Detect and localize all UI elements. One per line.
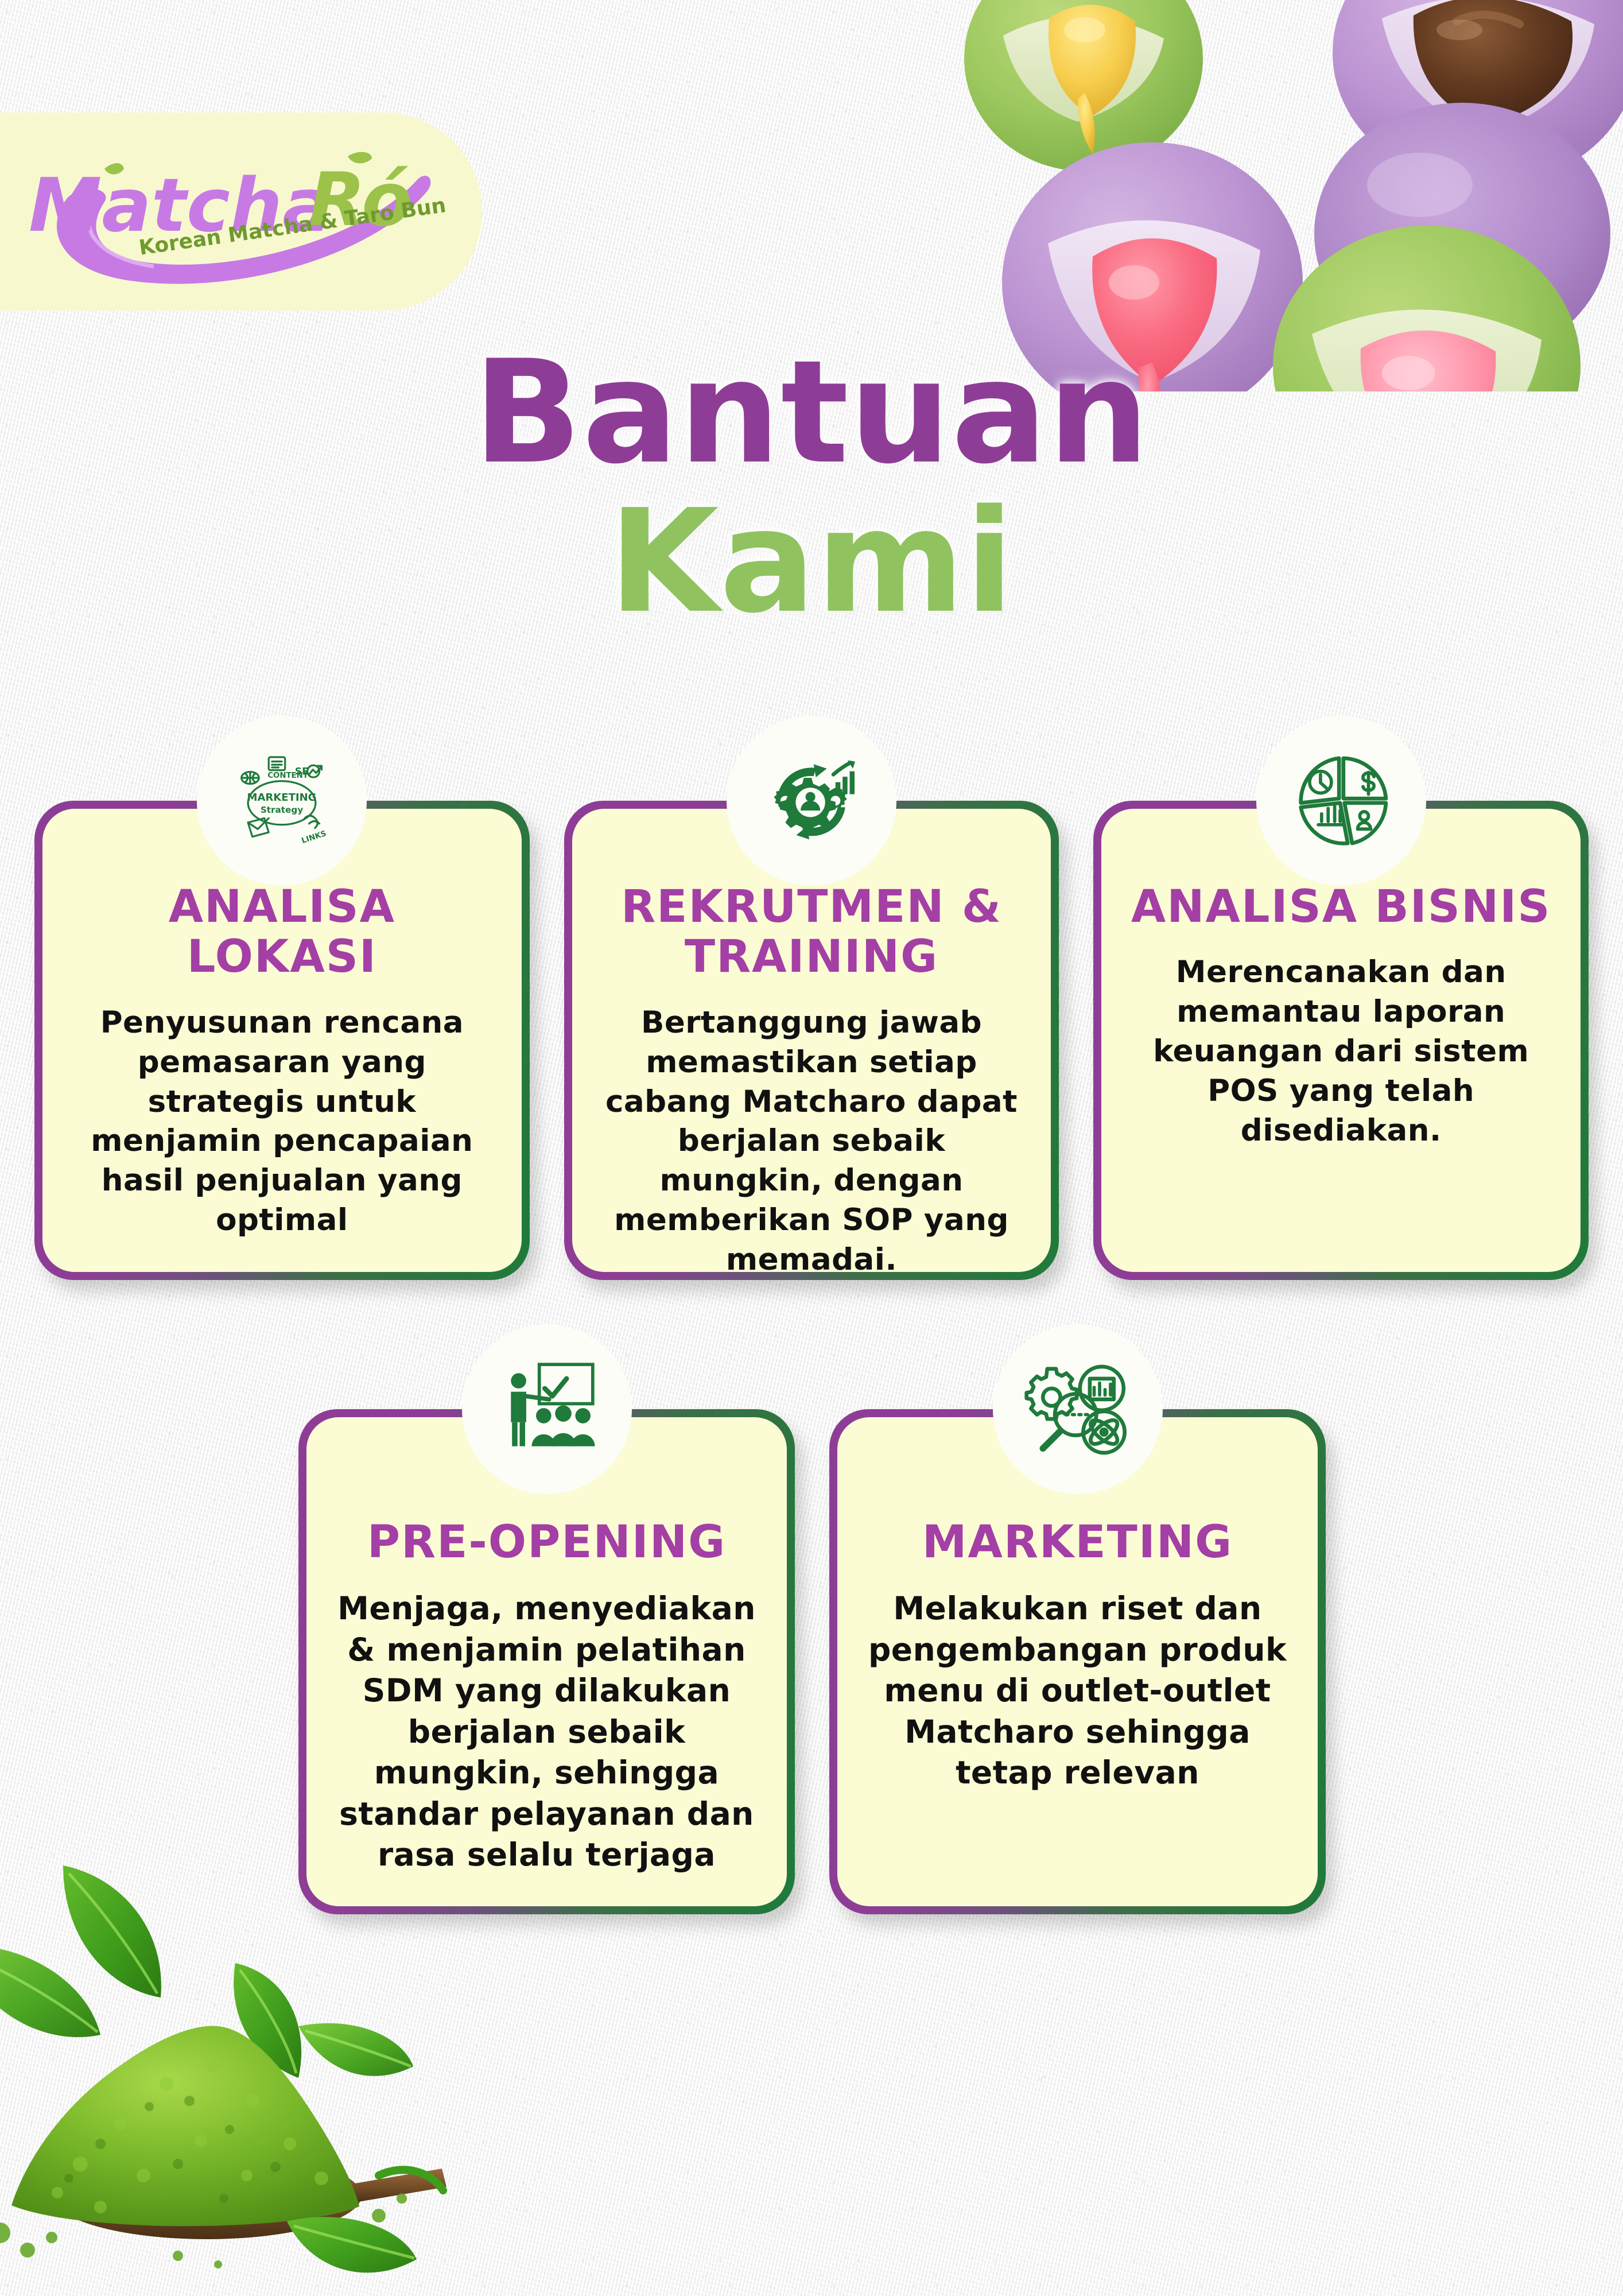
- training-presentation-icon: [462, 1324, 632, 1494]
- card-pre-opening[interactable]: PRE-OPENING Menjaga, menyediakan & menja…: [298, 1409, 795, 1914]
- card-title: MARKETING: [922, 1518, 1233, 1568]
- card-body: Penyusunan rencana pemasaran yang strate…: [68, 1003, 496, 1240]
- page-title-line-2: Kami: [0, 494, 1623, 630]
- card-body: Merencanakan dan memantau laporan keuang…: [1127, 953, 1555, 1150]
- card-rekrutmen-training[interactable]: REKRUTMEN & TRAINING Bertanggung jawab m…: [564, 801, 1059, 1280]
- card-marketing[interactable]: MARKETING Melakukan riset dan pengembang…: [829, 1409, 1326, 1914]
- marketing-strategy-doodle-icon: MARKETING Strategy CONTENT SE: [197, 716, 367, 886]
- svg-text:MARKETING: MARKETING: [247, 792, 317, 804]
- pie-chart-business-icon: [1256, 716, 1426, 886]
- svg-text:Strategy: Strategy: [261, 805, 303, 815]
- research-development-icon: [993, 1324, 1163, 1494]
- card-body: Menjaga, menyediakan & menjamin pelatiha…: [332, 1588, 762, 1876]
- svg-text:LINKS: LINKS: [301, 829, 328, 846]
- page-title: Bantuan Kami: [0, 344, 1623, 630]
- cards-row-bottom: PRE-OPENING Menjaga, menyediakan & menja…: [298, 1409, 1326, 1914]
- card-body: Melakukan riset dan pengembangan produk …: [863, 1588, 1292, 1794]
- brand-logo: Matcha Ró Korean Matcha & Taro Bun: [0, 133, 471, 294]
- cards-row-top: MARKETING Strategy CONTENT SE: [34, 801, 1589, 1280]
- page-title-line-1: Bantuan: [0, 344, 1623, 481]
- gears-people-growth-icon: [727, 716, 896, 886]
- card-analisa-lokasi[interactable]: MARKETING Strategy CONTENT SE: [34, 801, 530, 1280]
- card-title: ANALISA LOKASI: [68, 882, 496, 983]
- card-body: Bertanggung jawab memastikan setiap caba…: [597, 1003, 1026, 1280]
- card-title: ANALISA BISNIS: [1131, 882, 1551, 932]
- card-title: REKRUTMEN & TRAINING: [597, 882, 1026, 983]
- poster-canvas: Matcha Ró Korean Matcha & Taro Bun Bantu…: [0, 0, 1623, 2296]
- card-title: PRE-OPENING: [367, 1518, 726, 1568]
- brand-logo-pill: Matcha Ró Korean Matcha & Taro Bun: [0, 113, 482, 311]
- card-analisa-bisnis[interactable]: ANALISA BISNIS Merencanakan dan memantau…: [1093, 801, 1589, 1280]
